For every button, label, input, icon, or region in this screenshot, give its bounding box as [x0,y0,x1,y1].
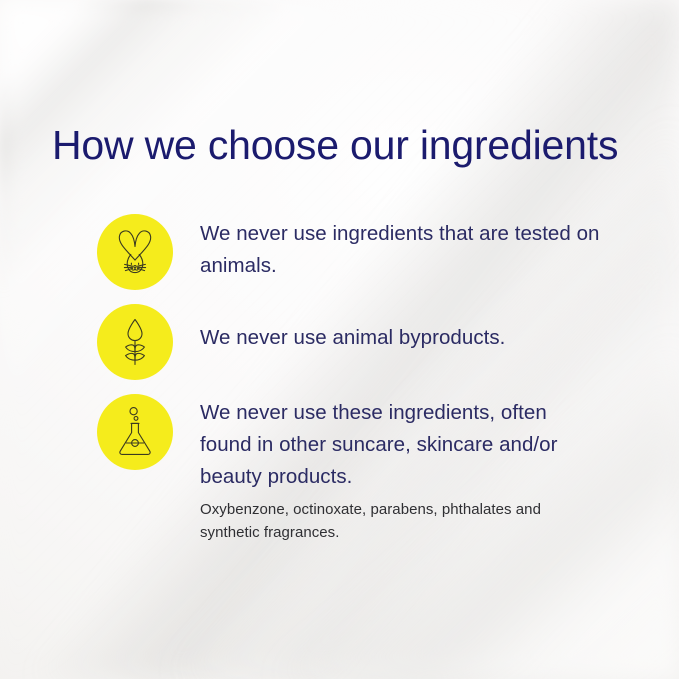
claim-text-block: We never use these ingredients, often fo… [200,394,600,544]
list-item: We never use ingredients that are tested… [0,214,679,290]
claim-fineprint: Oxybenzone, octinoxate, parabens, phthal… [200,498,600,544]
claim-text-block: We never use ingredients that are tested… [200,214,600,282]
claims-list: We never use ingredients that are tested… [0,214,679,554]
page-title: How we choose our ingredients [52,122,618,169]
flask-icon [112,405,158,459]
bunny-heart-ears-icon [112,226,158,278]
plant-leaf-icon [113,316,157,368]
badge-no-animal-byproducts [97,304,173,380]
claim-body: We never use ingredients that are tested… [200,218,600,282]
badge-no-harsh-chemicals [97,394,173,470]
list-item: We never use animal byproducts. [0,304,679,380]
claim-body: We never use these ingredients, often fo… [200,397,600,493]
badge-cruelty-free [97,214,173,290]
claim-text-block: We never use animal byproducts. [200,304,600,354]
ingredient-claims-card: How we choose our ingredients [0,0,679,679]
list-item: We never use these ingredients, often fo… [0,394,679,544]
claim-body: We never use animal byproducts. [200,322,600,354]
